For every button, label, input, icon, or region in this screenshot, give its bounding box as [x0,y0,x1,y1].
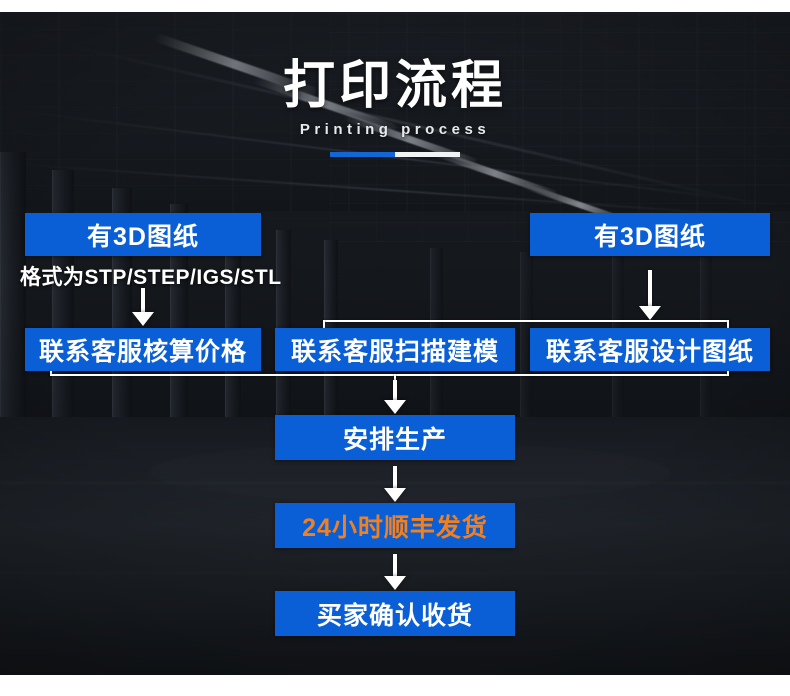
divider-segment-white [395,152,460,157]
flow-box-contact-service-quote[interactable]: 联系客服核算价格 [25,328,261,371]
printing-process-banner: 打印流程 Printing process 有3D图纸 有3D图纸 格式为STP… [0,0,790,696]
down-arrow-icon [132,288,154,326]
arrow-shaft [393,380,397,402]
down-arrow-icon [384,380,406,414]
flow-box-buyer-confirm-receipt[interactable]: 买家确认收货 [275,591,515,636]
connector-bottom-horizontal [50,374,729,376]
flow-box-has-3d-drawing-left[interactable]: 有3D图纸 [25,213,261,256]
down-arrow-icon [384,466,406,502]
arrow-head [384,488,406,502]
flow-box-contact-service-design-drawing[interactable]: 联系客服设计图纸 [530,328,770,371]
arrow-shaft [648,270,652,308]
arrow-head [132,312,154,326]
arrow-shaft [393,554,397,578]
title-divider [330,152,460,157]
letterbox-band-top [0,0,790,12]
down-arrow-icon [639,270,661,322]
arrow-shaft [393,466,397,490]
flow-box-contact-service-scan-model[interactable]: 联系客服扫描建模 [275,328,515,371]
arrow-head [384,400,406,414]
arrow-head [384,576,406,590]
page-title: 打印流程 [0,57,790,115]
down-arrow-icon [384,554,406,590]
letterbox-band-bottom [0,675,790,696]
page-subtitle: Printing process [0,120,790,140]
divider-segment-blue [330,152,395,157]
flow-box-arrange-production[interactable]: 安排生产 [275,415,515,460]
arrow-head [639,306,661,320]
file-format-caption: 格式为STP/STEP/IGS/STL [20,261,266,291]
arrow-shaft [141,288,145,314]
connector-bottom-right-stub [727,371,729,376]
connector-top-horizontal [323,320,729,322]
flow-box-24h-sf-express-shipping[interactable]: 24小时顺丰发货 [275,503,515,548]
flow-box-has-3d-drawing-right[interactable]: 有3D图纸 [530,213,770,256]
